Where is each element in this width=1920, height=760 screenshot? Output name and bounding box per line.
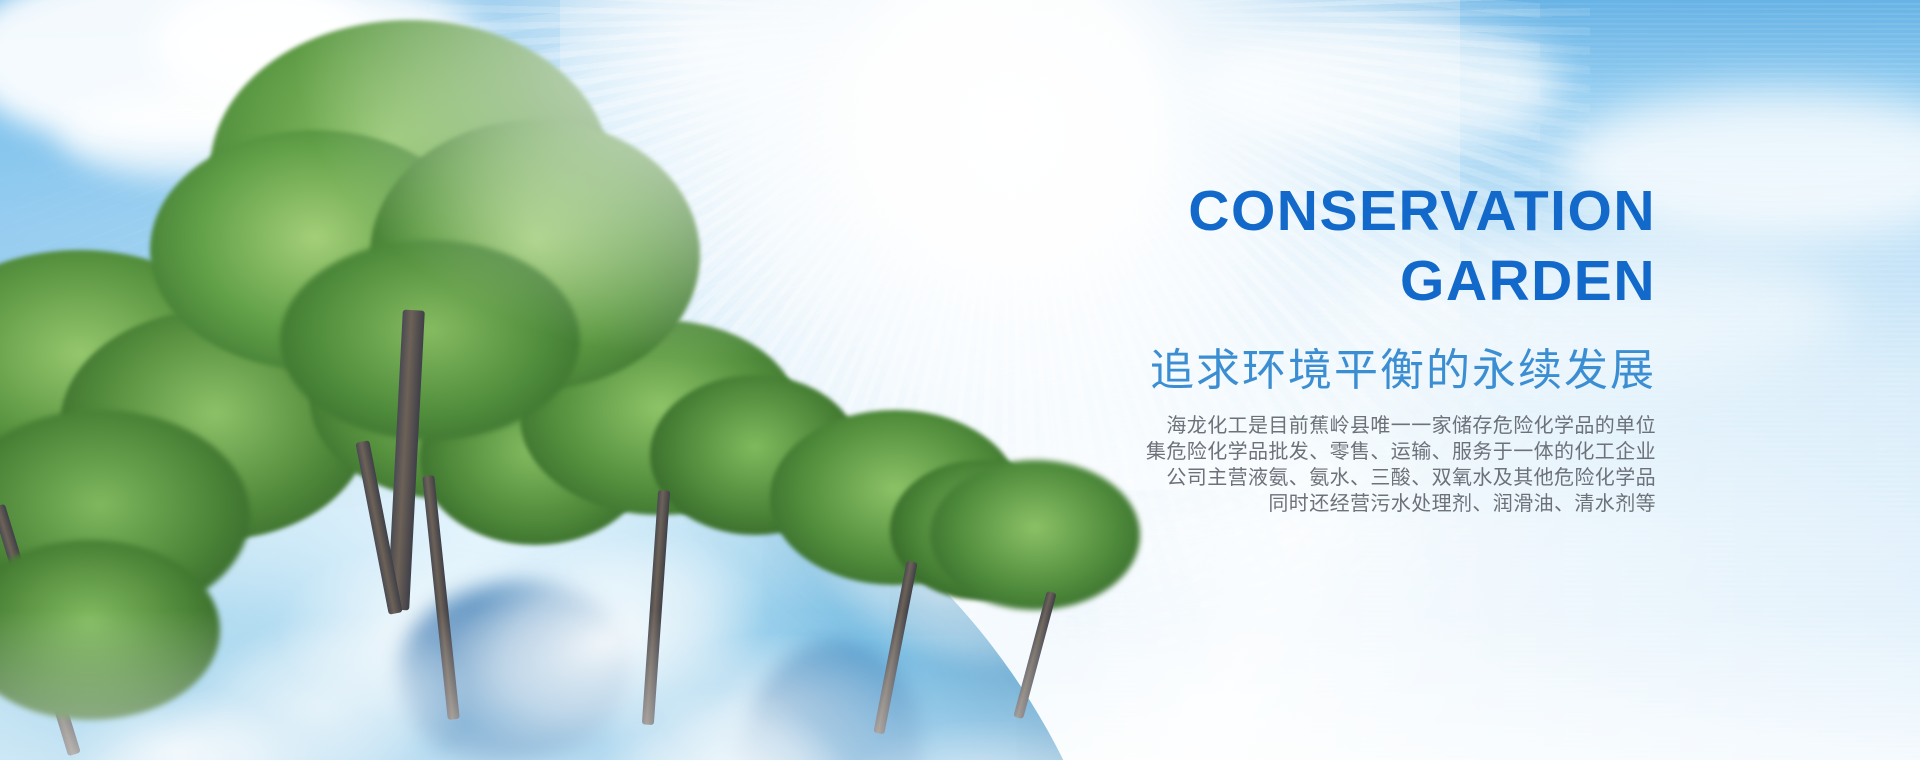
cloud-shape	[1200, 20, 1560, 150]
banner-headline-english: CONSERVATION GARDEN	[896, 176, 1656, 316]
hero-tree	[140, 10, 660, 570]
banner-description: 海龙化工是目前蕉岭县唯一一家储存危险化学品的单位 集危险化学品批发、零售、运输、…	[896, 412, 1656, 516]
banner-headline-chinese: 追求环境平衡的永续发展	[896, 344, 1656, 398]
description-line: 公司主营液氨、氨水、三酸、双氧水及其他危险化学品	[896, 464, 1656, 490]
tree-trunk	[873, 561, 917, 735]
hero-banner: CONSERVATION GARDEN 追求环境平衡的永续发展 海龙化工是目前蕉…	[0, 0, 1920, 760]
headline-line-1: CONSERVATION	[1188, 179, 1656, 243]
banner-copy-block: CONSERVATION GARDEN 追求环境平衡的永续发展 海龙化工是目前蕉…	[896, 176, 1656, 516]
description-line: 同时还经营污水处理剂、润滑油、清水剂等	[896, 490, 1656, 516]
description-line: 海龙化工是目前蕉岭县唯一一家储存危险化学品的单位	[896, 412, 1656, 438]
tree-foliage	[280, 240, 580, 440]
edge-shrub	[0, 540, 260, 760]
description-line: 集危险化学品批发、零售、运输、服务于一体的化工企业	[896, 438, 1656, 464]
headline-line-2: GARDEN	[896, 246, 1656, 316]
